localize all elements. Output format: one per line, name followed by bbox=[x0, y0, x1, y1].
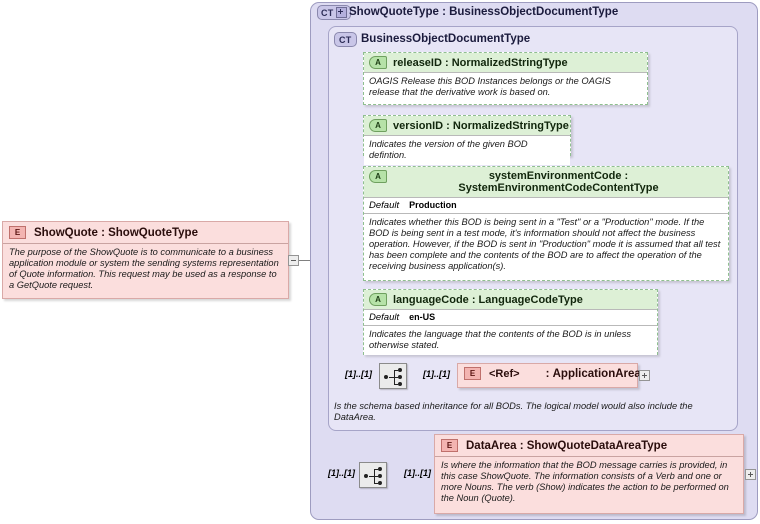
cardinality-left-dataarea: [1]..[1] bbox=[328, 468, 355, 478]
sequence-dot bbox=[398, 382, 402, 386]
schema-diagram-canvas: CT ShowQuoteType : BusinessObjectDocumen… bbox=[0, 0, 760, 524]
plus-icon[interactable] bbox=[336, 7, 347, 18]
element-header: E DataArea : ShowQuoteDataAreaType bbox=[435, 435, 743, 456]
element-box-applicationarea-ref[interactable]: E <Ref> : ApplicationArea bbox=[457, 363, 638, 388]
attribute-box-systemenvironmentcode[interactable]: A systemEnvironmentCode : SystemEnvironm… bbox=[363, 166, 729, 281]
attribute-title: systemEnvironmentCode : SystemEnvironmen… bbox=[393, 170, 724, 194]
sequence-dot bbox=[384, 375, 388, 379]
element-box-showquote[interactable]: E ShowQuote : ShowQuoteType The purpose … bbox=[2, 221, 289, 299]
basetype-badge-label: CT bbox=[339, 35, 352, 45]
cardinality-right-dataarea: [1]..[1] bbox=[404, 468, 431, 478]
element-documentation: Is where the information that the BOD me… bbox=[435, 456, 743, 508]
sequence-dot bbox=[398, 368, 402, 372]
element-badge-icon: E bbox=[441, 439, 458, 452]
element-title: ShowQuote : ShowQuoteType bbox=[34, 227, 198, 239]
attribute-default-label: Default bbox=[369, 200, 399, 211]
inheritance-note: Is the schema based inheritance for all … bbox=[334, 401, 714, 423]
element-name: : ApplicationArea bbox=[546, 368, 641, 380]
attribute-default-label: Default bbox=[369, 312, 399, 323]
basetype-badge[interactable]: CT bbox=[334, 32, 357, 47]
sequence-dot bbox=[378, 474, 382, 478]
sequence-compositor-icon-applicationarea[interactable] bbox=[379, 363, 407, 389]
element-documentation: The purpose of the ShowQuote is to commu… bbox=[3, 243, 288, 295]
attribute-box-versionid[interactable]: A versionID : NormalizedStringType Indic… bbox=[363, 115, 571, 156]
attribute-title: languageCode : LanguageCodeType bbox=[393, 294, 583, 306]
element-header: E <Ref> : ApplicationArea bbox=[458, 364, 637, 383]
attribute-badge-icon: A bbox=[369, 56, 387, 69]
sequence-dot bbox=[378, 467, 382, 471]
attribute-header: A versionID : NormalizedStringType bbox=[364, 116, 570, 135]
attribute-badge-icon: A bbox=[369, 170, 387, 183]
attribute-box-releaseid[interactable]: A releaseID : NormalizedStringType OAGIS… bbox=[363, 52, 648, 105]
element-ref-tag: <Ref> bbox=[489, 368, 520, 380]
attribute-documentation: Indicates the language that the contents… bbox=[364, 325, 657, 355]
element-title: DataArea : ShowQuoteDataAreaType bbox=[466, 440, 667, 452]
attribute-documentation: Indicates whether this BOD is being sent… bbox=[364, 213, 728, 276]
attribute-box-languagecode[interactable]: A languageCode : LanguageCodeType Defaul… bbox=[363, 289, 658, 355]
complextype-badge-label: CT bbox=[321, 8, 334, 18]
element-box-dataarea[interactable]: E DataArea : ShowQuoteDataAreaType Is wh… bbox=[434, 434, 744, 514]
basetype-title: BusinessObjectDocumentType bbox=[361, 33, 530, 45]
attribute-documentation: OAGIS Release this BOD Instances belongs… bbox=[364, 72, 647, 102]
element-badge-icon: E bbox=[464, 367, 481, 380]
attribute-badge-icon: A bbox=[369, 293, 387, 306]
attribute-title: releaseID : NormalizedStringType bbox=[393, 57, 568, 69]
element-header: E ShowQuote : ShowQuoteType bbox=[3, 222, 288, 243]
cardinality-left-applicationarea: [1]..[1] bbox=[345, 369, 372, 379]
attribute-header: A releaseID : NormalizedStringType bbox=[364, 53, 647, 72]
sequence-compositor-icon-dataarea[interactable] bbox=[359, 462, 387, 488]
complextype-title: ShowQuoteType : BusinessObjectDocumentTy… bbox=[349, 6, 618, 18]
sequence-dot bbox=[364, 474, 368, 478]
attribute-documentation: Indicates the version of the given BOD d… bbox=[364, 135, 570, 165]
cardinality-right-applicationarea: [1]..[1] bbox=[423, 369, 450, 379]
attribute-default-value: Production bbox=[409, 200, 457, 210]
attribute-header: A languageCode : LanguageCodeType bbox=[364, 290, 657, 309]
element-badge-icon: E bbox=[9, 226, 26, 239]
attribute-default-row: Default Production bbox=[364, 197, 728, 213]
attribute-title: versionID : NormalizedStringType bbox=[393, 120, 569, 132]
attribute-default-value: en-US bbox=[409, 312, 435, 322]
attribute-header: A systemEnvironmentCode : SystemEnvironm… bbox=[364, 167, 728, 197]
collapse-icon-showquote[interactable] bbox=[288, 255, 299, 266]
attribute-badge-icon: A bbox=[369, 119, 387, 132]
attribute-default-row: Default en-US bbox=[364, 309, 657, 325]
complextype-badge[interactable]: CT bbox=[317, 5, 351, 20]
sequence-dot bbox=[398, 375, 402, 379]
sequence-dot bbox=[378, 481, 382, 485]
expand-icon-applicationarea[interactable] bbox=[639, 370, 650, 381]
expand-icon-dataarea[interactable] bbox=[745, 469, 756, 480]
